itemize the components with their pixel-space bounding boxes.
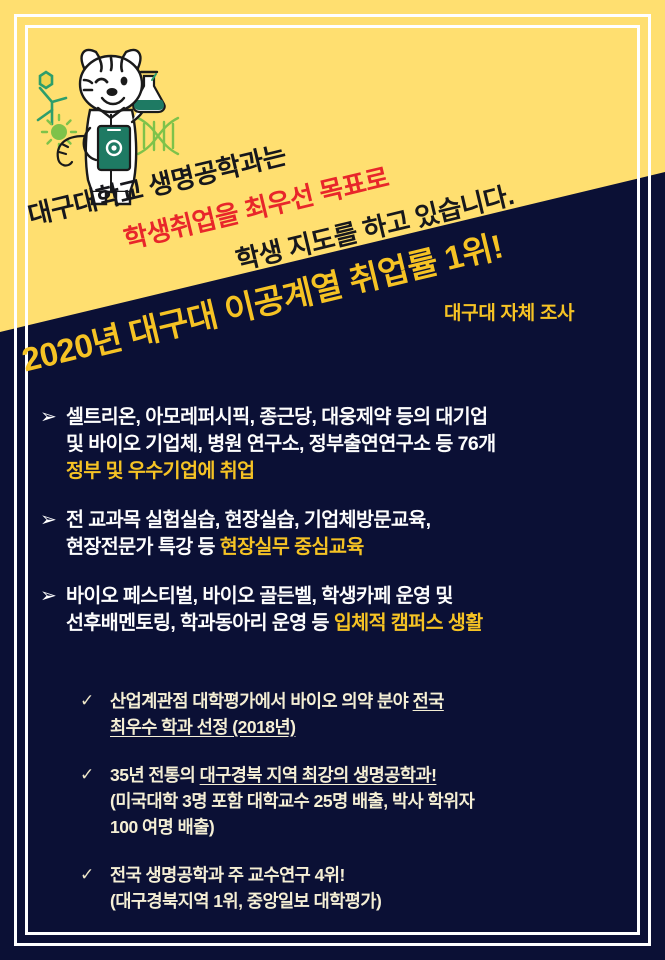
bullet-item: ➢ 전 교과목 실험실습, 현장실습, 기업체방문교육, 현장전문가 특강 등 … xyxy=(40,507,630,561)
arrow-bullet-icon: ➢ xyxy=(40,507,66,534)
check-item: ✓ 전국 생명공학과 주 교수연구 4위! (대구경북지역 1위, 중앙일보 대… xyxy=(80,862,630,914)
check-line: 100 여명 배출) xyxy=(110,814,630,840)
bullet-line-plain: 현장전문가 특강 등 xyxy=(66,536,220,558)
check-line: 최우수 학과 선정 (2018년) xyxy=(110,714,630,740)
bullet-text: 셀트리온, 아모레퍼시픽, 종근당, 대웅제약 등의 대기업 및 바이오 기업체… xyxy=(66,404,630,485)
check-line-underline: 대구경북 지역 최강의 생명공학과! xyxy=(200,765,437,785)
bullet-text: 전 교과목 실험실습, 현장실습, 기업체방문교육, 현장전문가 특강 등 현장… xyxy=(66,507,630,561)
bullet-line: 전 교과목 실험실습, 현장실습, 기업체방문교육, xyxy=(66,507,630,534)
check-item: ✓ 35년 전통의 대구경북 지역 최강의 생명공학과! (미국대학 3명 포함… xyxy=(80,762,630,840)
bullet-line: 선후배멘토링, 학과동아리 운영 등 입체적 캠퍼스 생활 xyxy=(66,610,630,637)
bullet-line: 바이오 페스티벌, 바이오 골든벨, 학생카페 운영 및 xyxy=(66,583,630,610)
bullet-line-plain: 선후배멘토링, 학과동아리 운영 등 xyxy=(66,612,334,634)
arrow-bullet-icon: ➢ xyxy=(40,404,66,431)
check-icon: ✓ xyxy=(80,762,110,788)
check-line-plain: 산업계관점 대학평가에서 바이오 의약 분야 xyxy=(110,691,413,711)
bullet-list: ➢ 셀트리온, 아모레퍼시픽, 종근당, 대웅제약 등의 대기업 및 바이오 기… xyxy=(40,404,630,659)
check-text: 35년 전통의 대구경북 지역 최강의 생명공학과! (미국대학 3명 포함 대… xyxy=(110,762,630,840)
check-line: 35년 전통의 대구경북 지역 최강의 생명공학과! xyxy=(110,762,630,788)
check-line: 산업계관점 대학평가에서 바이오 의약 분야 전국 xyxy=(110,688,630,714)
bullet-line: 현장전문가 특강 등 현장실무 중심교육 xyxy=(66,534,630,561)
check-line-plain: 35년 전통의 xyxy=(110,765,200,785)
bullet-line-highlight: 입체적 캠퍼스 생활 xyxy=(334,612,483,634)
check-line: (대구경북지역 1위, 중앙일보 대학평가) xyxy=(110,888,630,914)
check-item: ✓ 산업계관점 대학평가에서 바이오 의약 분야 전국 최우수 학과 선정 (2… xyxy=(80,688,630,740)
bullet-item: ➢ 바이오 페스티벌, 바이오 골든벨, 학생카페 운영 및 선후배멘토링, 학… xyxy=(40,583,630,637)
bullet-line: 셀트리온, 아모레퍼시픽, 종근당, 대웅제약 등의 대기업 xyxy=(66,404,630,431)
bullet-text: 바이오 페스티벌, 바이오 골든벨, 학생카페 운영 및 선후배멘토링, 학과동… xyxy=(66,583,630,637)
check-line: 전국 생명공학과 주 교수연구 4위! xyxy=(110,862,630,888)
bullet-line-highlight: 정부 및 우수기업에 취업 xyxy=(66,458,630,485)
check-line: (미국대학 3명 포함 대학교수 25명 배출, 박사 학위자 xyxy=(110,788,630,814)
bullet-line: 및 바이오 기업체, 병원 연구소, 정부출연연구소 등 76개 xyxy=(66,431,630,458)
check-icon: ✓ xyxy=(80,688,110,714)
check-line-underline: 전국 xyxy=(413,691,444,711)
title-caption: 대구대 자체 조사 xyxy=(444,298,574,325)
arrow-bullet-icon: ➢ xyxy=(40,583,66,610)
bullet-item: ➢ 셀트리온, 아모레퍼시픽, 종근당, 대웅제약 등의 대기업 및 바이오 기… xyxy=(40,404,630,485)
check-icon: ✓ xyxy=(80,862,110,888)
check-text: 전국 생명공학과 주 교수연구 4위! (대구경북지역 1위, 중앙일보 대학평… xyxy=(110,862,630,914)
poster-root: 대구대학교 생명공학과는 학생취업을 최우선 목표로 학생 지도를 하고 있습니… xyxy=(0,0,665,960)
check-list: ✓ 산업계관점 대학평가에서 바이오 의약 분야 전국 최우수 학과 선정 (2… xyxy=(80,688,630,936)
check-line-underline: 최우수 학과 선정 (2018년) xyxy=(110,717,295,737)
bullet-line-highlight: 현장실무 중심교육 xyxy=(220,536,364,558)
check-text: 산업계관점 대학평가에서 바이오 의약 분야 전국 최우수 학과 선정 (201… xyxy=(110,688,630,740)
